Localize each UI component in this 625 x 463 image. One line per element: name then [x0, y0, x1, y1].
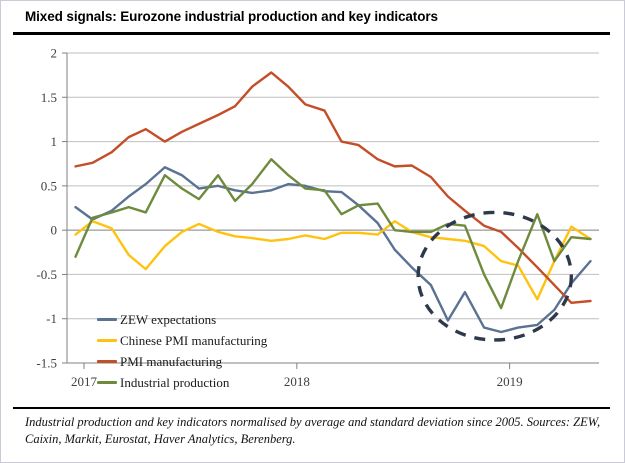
series-line-industrial-production [76, 159, 591, 308]
legend-item: PMI manufacturing [97, 351, 267, 372]
series-line-zew-expectations [76, 167, 591, 332]
title-bar: Mixed signals: Eurozone industrial produ… [1, 1, 624, 35]
data-series-group [76, 72, 591, 332]
legend: ZEW expectationsChinese PMI manufacturin… [97, 309, 267, 393]
legend-item: Chinese PMI manufacturing [97, 330, 267, 351]
series-line-pmi-manufacturing [76, 72, 591, 302]
legend-color-swatch [97, 360, 117, 364]
legend-color-swatch [97, 381, 117, 385]
x-axis-tick-label: 2018 [284, 374, 310, 389]
legend-item-label: ZEW expectations [120, 312, 216, 328]
legend-item: Industrial production [97, 372, 267, 393]
y-axis-tick-label: 1.5 [41, 90, 57, 105]
y-axis-tick-label: 1 [51, 134, 58, 149]
legend-color-swatch [97, 339, 117, 343]
legend-item: ZEW expectations [97, 309, 267, 330]
legend-item-label: Industrial production [120, 375, 229, 391]
y-axis-tick-label: -1 [46, 311, 57, 326]
x-axis-tick-label: 2017 [71, 374, 98, 389]
y-axis-tick-label: 0.5 [41, 178, 57, 193]
x-axis-tick-label: 2019 [497, 374, 523, 389]
legend-item-label: Chinese PMI manufacturing [120, 333, 267, 349]
y-axis-tick-label: 0 [51, 223, 58, 238]
page-title: Mixed signals: Eurozone industrial produ… [25, 9, 438, 24]
chart-figure: Mixed signals: Eurozone industrial produ… [0, 0, 625, 463]
y-axis-tick-label: -0.5 [36, 267, 57, 282]
legend-item-label: PMI manufacturing [120, 354, 222, 370]
series-line-chinese-pmi-manufacturing [76, 221, 591, 299]
y-axis-tick-label: 2 [51, 46, 58, 61]
y-axis-tick-labels: -1.5-1-0.500.511.52 [36, 46, 57, 371]
y-axis-tick-label: -1.5 [36, 356, 57, 371]
line-chart-svg: -1.5-1-0.500.511.52 201720182019 [1, 35, 624, 406]
legend-color-swatch [97, 318, 117, 322]
footnote-divider [13, 407, 610, 409]
footnote-text: Industrial production and key indicators… [25, 414, 605, 448]
plot-area: -1.5-1-0.500.511.52 201720182019 ZEW exp… [1, 35, 624, 406]
